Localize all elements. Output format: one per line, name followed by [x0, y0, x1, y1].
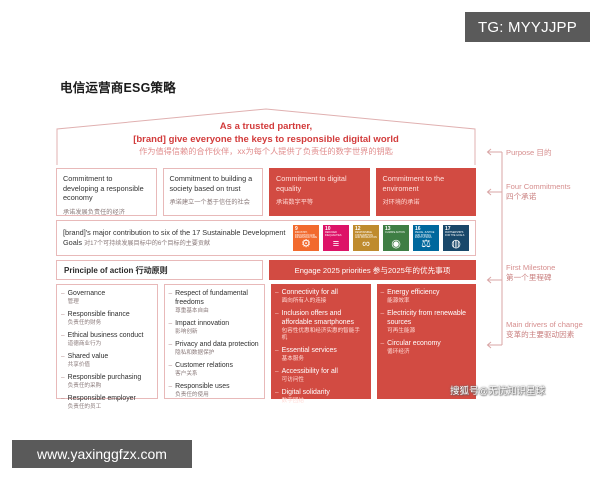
sdg-description-cn: 对17个可持续发展目标中的6个目标的主要贡献 — [84, 240, 210, 247]
driver-item-en: Responsible purchasing — [68, 374, 152, 383]
driver-item: –Connectivity for all面向所有人的连接 — [275, 289, 366, 305]
driver-item: –Respect of fundamental freedoms尊重基本自由 — [169, 290, 260, 315]
annotation-bracket-icon — [484, 120, 600, 390]
bullet-dash-icon: – — [169, 320, 173, 336]
driver-item-en: Respect of fundamental freedoms — [175, 290, 259, 308]
sdg-name: PARTNERSHIPS FOR THE GOALS — [445, 232, 467, 237]
annotation-four-commitments-cn: 四个承诺 — [506, 192, 571, 202]
driver-item: –Shared value共享价值 — [61, 353, 152, 369]
driver-column: –Energy efficiency能源效率–Electricity from … — [377, 284, 477, 399]
driver-item: –Electricity from renewable sources可再生能源 — [381, 310, 472, 335]
driver-item-text: Digital solidarity数字团结 — [282, 389, 366, 405]
principle-of-action-box: Principle of action 行动原则 — [56, 260, 263, 280]
driver-item-cn: 负责任的使用 — [175, 392, 259, 399]
driver-item-cn: 负责任的财务 — [68, 320, 152, 327]
sdg-icon-17: 17PARTNERSHIPS FOR THE GOALS◍ — [443, 225, 469, 251]
driver-item-en: Ethical business conduct — [68, 332, 152, 341]
commitment-title-cn: 承诺发展负责任的经济 — [63, 207, 150, 216]
driver-item-text: Respect of fundamental freedoms尊重基本自由 — [175, 290, 259, 315]
driver-item-cn: 循环经济 — [387, 349, 471, 356]
commitment-card: Commitment to digital equality承诺数字平等 — [269, 168, 370, 216]
annotation-main-drivers-cn: 变革的主要驱动因素 — [506, 330, 583, 340]
driver-item-cn: 影响创新 — [175, 329, 259, 336]
driver-item-text: Accessibility for all可访问性 — [282, 368, 366, 384]
driver-item-text: Energy efficiency能源效率 — [387, 289, 471, 305]
driver-item: –Energy efficiency能源效率 — [381, 289, 472, 305]
commitment-card: Commitment to building a society based o… — [163, 168, 264, 216]
driver-item-cn: 可再生能源 — [387, 328, 471, 335]
sdg-icon-10: 10REDUCED INEQUALITIES≡ — [323, 225, 349, 251]
driver-item-cn: 道德商业行为 — [68, 341, 152, 348]
driver-item-en: Shared value — [68, 353, 152, 362]
page-title: 电信运营商ESG策略 — [60, 77, 176, 96]
driver-item-en: Responsible uses — [175, 383, 259, 392]
driver-item-en: Essential services — [282, 347, 366, 356]
driver-item-text: Shared value共享价值 — [68, 353, 152, 369]
driver-item-text: Privacy and data protection隐私和数据保护 — [175, 341, 259, 357]
watermark: 搜狐号@无忧知识星球 — [450, 383, 545, 397]
annotation-purpose: Purpose 目的 — [506, 148, 552, 158]
bullet-dash-icon: – — [61, 353, 65, 369]
commitment-card: Commitment to the enviroment对环境的承诺 — [376, 168, 477, 216]
bullet-dash-icon: – — [61, 374, 65, 390]
driver-item: –Impact innovation影响创新 — [169, 320, 260, 336]
driver-item-text: Impact innovation影响创新 — [175, 320, 259, 336]
driver-item-en: Inclusion offers and affordable smartpho… — [282, 310, 366, 328]
annotation-four-commitments: Four Commitments 四个承诺 — [506, 182, 571, 203]
driver-item: –Responsible purchasing负责任的采购 — [61, 374, 152, 390]
sdg-name: CLIMATE ACTION — [385, 232, 407, 235]
annotation-first-milestone: First Milestone 第一个里程碑 — [506, 263, 555, 284]
driver-item-cn: 基本服务 — [282, 356, 366, 363]
bullet-dash-icon: – — [275, 389, 279, 405]
driver-item-text: Responsible finance负责任的财务 — [68, 311, 152, 327]
driver-column: –Respect of fundamental freedoms尊重基本自由–I… — [164, 284, 266, 399]
bullet-dash-icon: – — [169, 362, 173, 378]
sdg-description: [brand]'s major contribution to six of t… — [63, 228, 293, 248]
sdg-icon-12: 12RESPONSIBLE CONSUMPTION AND PRODUCTION… — [353, 225, 379, 251]
sdg-name: REDUCED INEQUALITIES — [325, 232, 347, 237]
commitment-title-cn: 承诺建立一个基于信任的社会 — [170, 197, 257, 206]
driver-item-text: Connectivity for all面向所有人的连接 — [282, 289, 366, 305]
driver-item-text: Ethical business conduct道德商业行为 — [68, 332, 152, 348]
annotation-main-drivers-en: Main drivers of change — [506, 320, 583, 329]
driver-item-en: Responsible finance — [68, 311, 152, 320]
driver-item-text: Responsible uses负责任的使用 — [175, 383, 259, 399]
bullet-dash-icon: – — [381, 289, 385, 305]
bullet-dash-icon: – — [61, 395, 65, 411]
driver-item-cn: 客户关系 — [175, 371, 259, 378]
driver-item-en: Electricity from renewable sources — [387, 310, 471, 328]
driver-item-en: Customer relations — [175, 362, 259, 371]
driver-item: –Responsible finance负责任的财务 — [61, 311, 152, 327]
driver-item: –Governance管理 — [61, 290, 152, 306]
driver-item-text: Circular economy循环经济 — [387, 340, 471, 356]
tg-badge: TG: MYYJJPP — [465, 12, 590, 42]
driver-item-text: Governance管理 — [68, 290, 152, 306]
driver-item: –Circular economy循环经济 — [381, 340, 472, 356]
bullet-dash-icon: – — [275, 368, 279, 384]
commitment-title-cn: 对环境的承诺 — [383, 197, 470, 206]
commitment-title: Commitment to digital equality — [276, 174, 363, 193]
driver-item-text: Inclusion offers and affordable smartpho… — [282, 310, 366, 342]
driver-item-en: Impact innovation — [175, 320, 259, 329]
sdg-icon-13: 13CLIMATE ACTION◉ — [383, 225, 409, 251]
bullet-dash-icon: – — [275, 347, 279, 363]
bullet-dash-icon: – — [169, 290, 173, 315]
bullet-dash-icon: – — [61, 332, 65, 348]
purpose-line-1: As a trusted partner, — [56, 120, 476, 133]
driver-column: –Connectivity for all面向所有人的连接–Inclusion … — [271, 284, 371, 399]
sdg-icon-16: 16PEACE, JUSTICE AND STRONG INSTITUTIONS… — [413, 225, 439, 251]
purpose-text: As a trusted partner, [brand] give every… — [56, 120, 476, 158]
driver-item-text: Customer relations客户关系 — [175, 362, 259, 378]
driver-item-en: Circular economy — [387, 340, 471, 349]
driver-item-cn: 可访问性 — [282, 377, 366, 384]
esg-house-diagram: As a trusted partner, [brand] give every… — [56, 108, 476, 408]
driver-item-text: Essential services基本服务 — [282, 347, 366, 363]
driver-item: –Accessibility for all可访问性 — [275, 368, 366, 384]
commitment-card: Commitment to developing a responsible e… — [56, 168, 157, 216]
driver-item-cn: 负责任的采购 — [68, 383, 152, 390]
driver-item-en: Connectivity for all — [282, 289, 366, 298]
sdg-glyph-icon: ◉ — [383, 239, 409, 250]
bullet-dash-icon: – — [275, 310, 279, 342]
bullet-dash-icon: – — [169, 383, 173, 399]
driver-item-cn: 数字团结 — [282, 398, 366, 405]
bullet-dash-icon: – — [61, 311, 65, 327]
driver-item-en: Governance — [68, 290, 152, 299]
driver-item: –Digital solidarity数字团结 — [275, 389, 366, 405]
driver-item: –Customer relations客户关系 — [169, 362, 260, 378]
driver-item-cn: 尊重基本自由 — [175, 308, 259, 315]
sdg-glyph-icon: ⚖ — [413, 239, 439, 250]
url-bar: www.yaxinggfzx.com — [12, 440, 192, 468]
driver-item-text: Electricity from renewable sources可再生能源 — [387, 310, 471, 335]
driver-item: –Responsible employer负责任的员工 — [61, 395, 152, 411]
driver-item-cn: 共享价值 — [68, 362, 152, 369]
bullet-dash-icon: – — [381, 310, 385, 335]
bullet-dash-icon: – — [169, 341, 173, 357]
driver-item-text: Responsible employer负责任的员工 — [68, 395, 152, 411]
driver-item-cn: 管理 — [68, 299, 152, 306]
engage-priorities-box: Engage 2025 priorities 参与2025年的优先事项 — [269, 260, 476, 280]
driver-item-cn: 面向所有人的连接 — [282, 298, 366, 305]
driver-item-en: Responsible employer — [68, 395, 152, 404]
driver-item: –Inclusion offers and affordable smartph… — [275, 310, 366, 342]
driver-column: –Governance管理–Responsible finance负责任的财务–… — [56, 284, 158, 399]
commitment-title-cn: 承诺数字平等 — [276, 197, 363, 206]
driver-item-en: Privacy and data protection — [175, 341, 259, 350]
driver-item-cn: 负责任的员工 — [68, 404, 152, 411]
annotation-first-milestone-en: First Milestone — [506, 263, 555, 272]
driver-item-en: Energy efficiency — [387, 289, 471, 298]
annotation-first-milestone-cn: 第一个里程碑 — [506, 273, 555, 283]
purpose-line-cn: 作为值得信赖的合作伙伴，xx为每个人提供了负责任的数字世界的钥匙 — [56, 146, 476, 157]
driver-item: –Privacy and data protection隐私和数据保护 — [169, 341, 260, 357]
driver-item: –Ethical business conduct道德商业行为 — [61, 332, 152, 348]
commitment-title: Commitment to developing a responsible e… — [63, 174, 150, 203]
bullet-dash-icon: – — [61, 290, 65, 306]
drivers-columns: –Governance管理–Responsible finance负责任的财务–… — [56, 284, 476, 399]
sdg-glyph-icon: ⚙ — [293, 239, 319, 250]
driver-item-cn: 能源效率 — [387, 298, 471, 305]
driver-item: –Responsible uses负责任的使用 — [169, 383, 260, 399]
sdg-contribution-row: [brand]'s major contribution to six of t… — [56, 220, 476, 256]
sdg-glyph-icon: ◍ — [443, 239, 469, 250]
commitments-row: Commitment to developing a responsible e… — [56, 168, 476, 216]
sdg-icon-group: 9INDUSTRY, INNOVATION AND INFRASTRUCTURE… — [293, 225, 469, 251]
driver-item-text: Responsible purchasing负责任的采购 — [68, 374, 152, 390]
bullet-dash-icon: – — [381, 340, 385, 356]
driver-item: –Essential services基本服务 — [275, 347, 366, 363]
milestone-row: Principle of action 行动原则 Engage 2025 pri… — [56, 260, 476, 280]
purpose-line-2: [brand] give everyone the keys to respon… — [56, 133, 476, 146]
driver-item-en: Accessibility for all — [282, 368, 366, 377]
roof-purpose-block: As a trusted partner, [brand] give every… — [56, 108, 476, 166]
sdg-glyph-icon: ≡ — [323, 239, 349, 250]
bullet-dash-icon: – — [275, 289, 279, 305]
annotation-four-commitments-en: Four Commitments — [506, 182, 571, 191]
annotation-main-drivers: Main drivers of change 变革的主要驱动因素 — [506, 320, 583, 341]
commitment-title: Commitment to the enviroment — [383, 174, 470, 193]
driver-item-en: Digital solidarity — [282, 389, 366, 398]
annotation-purpose-en: Purpose 目的 — [506, 148, 552, 157]
commitment-title: Commitment to building a society based o… — [170, 174, 257, 193]
annotation-callouts: Purpose 目的 Four Commitments 四个承诺 First M… — [484, 120, 600, 390]
driver-item-cn: 隐私和数据保护 — [175, 350, 259, 357]
sdg-icon-9: 9INDUSTRY, INNOVATION AND INFRASTRUCTURE… — [293, 225, 319, 251]
slide-canvas: TG: MYYJJPP 电信运营商ESG策略 As a trusted part… — [0, 0, 600, 480]
sdg-glyph-icon: ∞ — [353, 239, 379, 250]
driver-item-cn: 包容性优惠和经济实惠的智能手机 — [282, 328, 366, 342]
